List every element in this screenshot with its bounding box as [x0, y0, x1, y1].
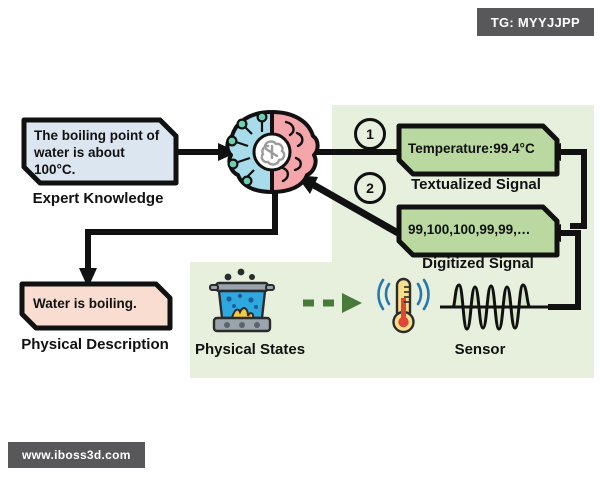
sensor-caption: Sensor — [425, 341, 535, 358]
textualized-signal-box-text: Temperature:99.4°C — [408, 141, 554, 158]
step-one-marker: 1 — [354, 118, 386, 150]
digitized-signal-box-text: 99,100,100,99,99,… — [408, 222, 556, 239]
step-two-marker: 2 — [354, 172, 386, 204]
expert-knowledge-caption: Expert Knowledge — [0, 190, 196, 207]
physical-description-box-text: Water is boiling. — [33, 296, 167, 313]
watermark-top-right: TG: MYYJJPP — [477, 8, 594, 36]
diagram-graphics — [0, 0, 600, 480]
watermark-bottom-left: www.iboss3d.com — [8, 442, 145, 468]
expert-knowledge-box-text: The boiling point of water is about 100°… — [34, 128, 168, 179]
digitized-signal-caption: Digitized Signal — [390, 255, 566, 272]
textualized-signal-caption: Textualized Signal — [386, 176, 566, 193]
brain-icon — [227, 112, 317, 192]
openai-logo-icon — [254, 134, 290, 170]
physical-description-caption: Physical Description — [0, 336, 190, 353]
physical-states-caption: Physical States — [185, 341, 315, 358]
diagram-canvas: The boiling point of water is about 100°… — [0, 0, 600, 480]
